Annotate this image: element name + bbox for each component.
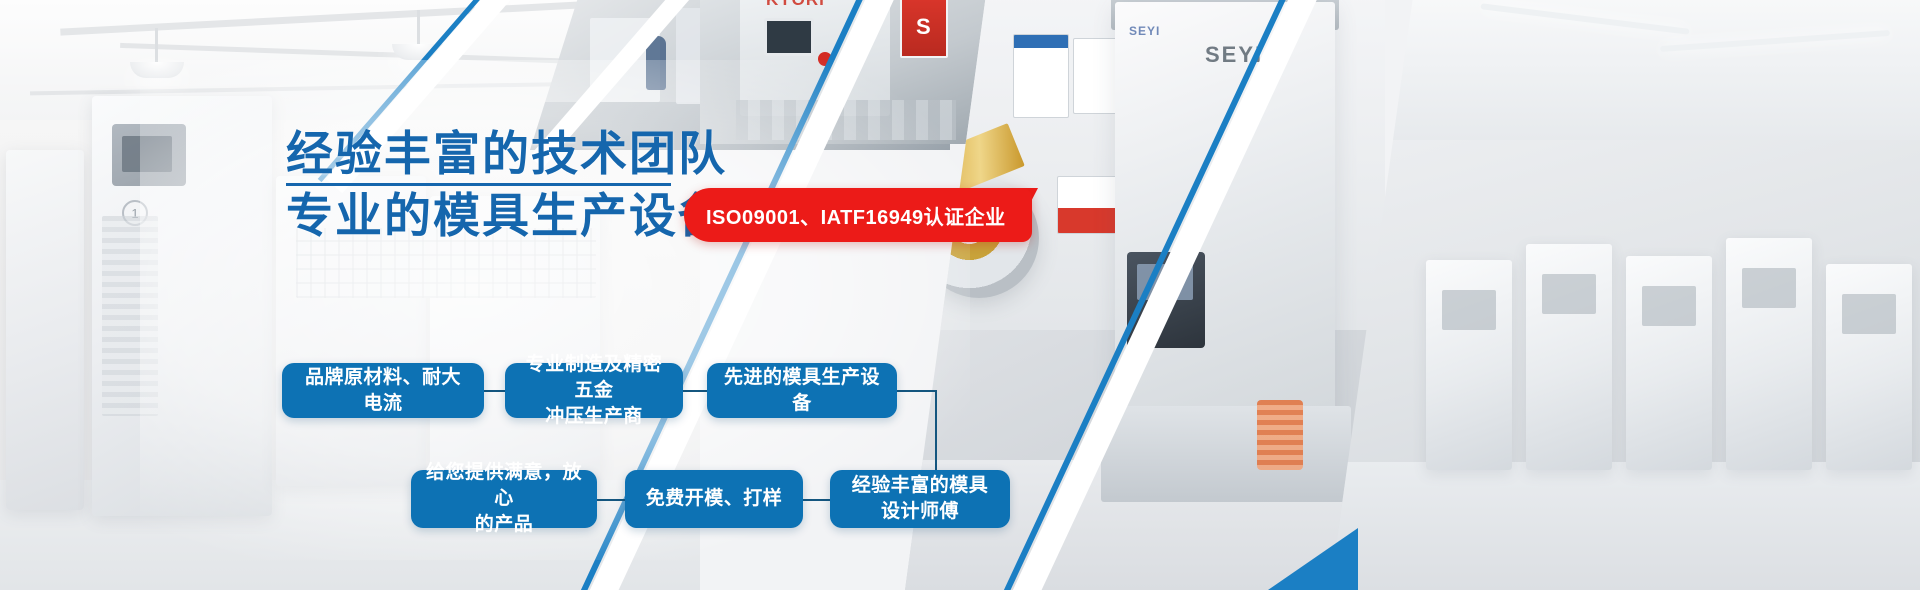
promo-banner: 1 KYORI (0, 0, 1920, 590)
feature-pill-brand-material[interactable]: 品牌原材料、耐大电流 (282, 363, 484, 418)
flow-connector (803, 499, 830, 501)
feature-pill-manufacturing[interactable]: 专业制造及精密五金冲压生产商 (505, 363, 683, 418)
feature-flow-diagram: 品牌原材料、耐大电流 专业制造及精密五金冲压生产商 先进的模具生产设备 给您提供… (0, 0, 1920, 590)
flow-connector (484, 390, 505, 392)
flow-connector (683, 390, 707, 392)
feature-pill-advanced-equipment[interactable]: 先进的模具生产设备 (707, 363, 897, 418)
feature-pill-designers[interactable]: 经验丰富的模具设计师傅 (830, 470, 1010, 528)
flow-connector (597, 499, 625, 501)
feature-pill-satisfaction[interactable]: 给您提供满意，放心的产品 (411, 470, 597, 528)
feature-pill-free-mold[interactable]: 免费开模、打样 (625, 470, 803, 528)
flow-connector (897, 390, 937, 392)
certification-badge: ISO09001、IATF16949认证企业 (684, 188, 1032, 242)
